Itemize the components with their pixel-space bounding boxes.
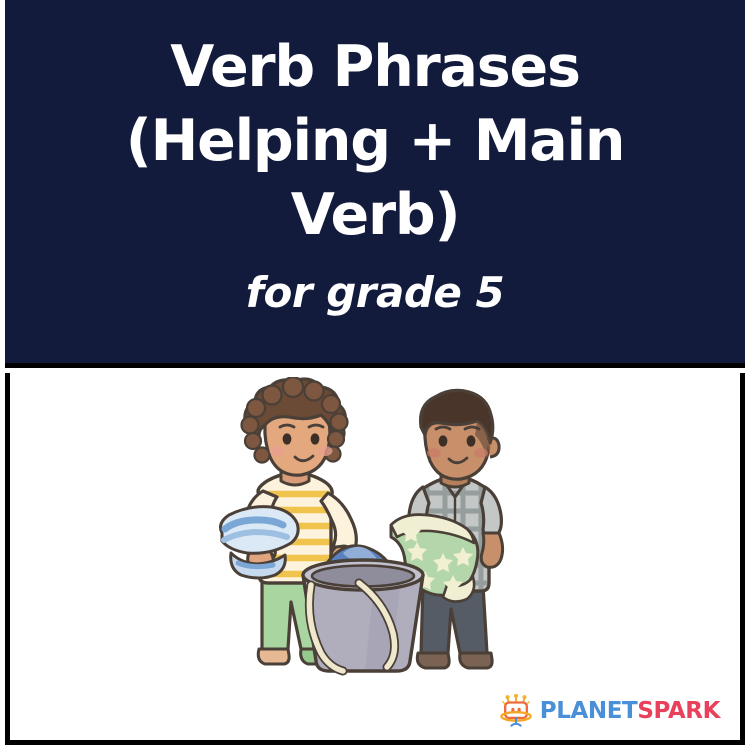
wordmark-planet: PLANET xyxy=(540,698,638,724)
planetspark-logo: PLANETSPARK xyxy=(499,694,720,728)
laundry-basket xyxy=(303,546,423,671)
planetspark-wordmark: PLANETSPARK xyxy=(540,700,720,723)
illustration-panel: PLANETSPARK xyxy=(5,373,745,745)
title-banner: Verb Phrases (Helping + Main Verb) for g… xyxy=(5,0,745,368)
page-subtitle: for grade 5 xyxy=(246,268,504,317)
planetspark-robot-icon xyxy=(499,694,533,728)
worksheet-cover-page: Verb Phrases (Helping + Main Verb) for g… xyxy=(0,0,750,750)
page-title: Verb Phrases (Helping + Main Verb) xyxy=(108,30,642,252)
laundry-illustration xyxy=(215,377,535,682)
wordmark-spark: SPARK xyxy=(637,698,720,724)
